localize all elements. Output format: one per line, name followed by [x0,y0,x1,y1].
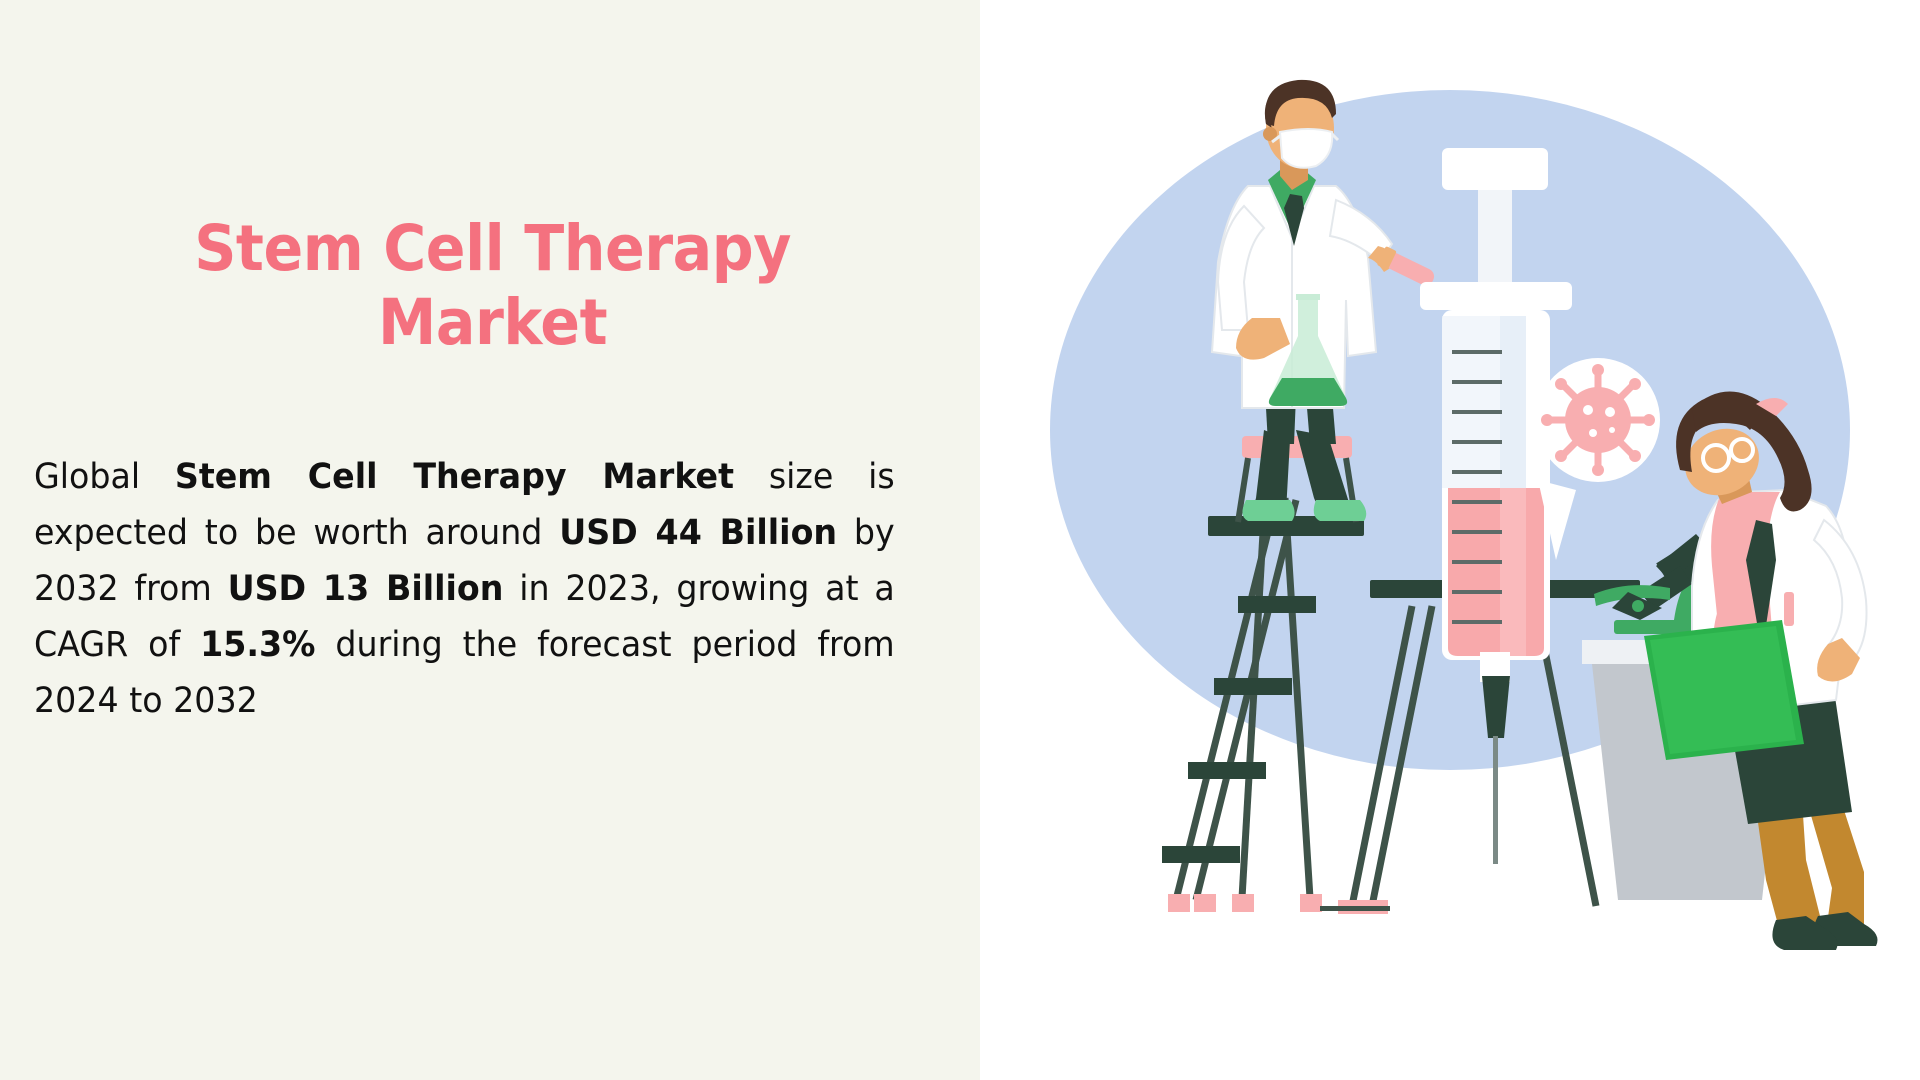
summary-emphasis: Stem Cell Therapy Market [175,457,734,497]
market-summary-paragraph: Global Stem Cell Therapy Market size is … [34,449,895,729]
summary-emphasis: USD 44 Billion [559,513,837,553]
summary-emphasis: 15.3% [200,625,315,665]
clipboard [1644,620,1804,760]
page-title: Stem Cell Therapy Market [66,212,909,361]
infographic-banner: Stem Cell Therapy Market Global Stem Cel… [0,0,1920,1080]
summary-emphasis: USD 13 Billion [228,569,504,609]
illustration-panel [980,0,1920,1080]
text-panel: Stem Cell Therapy Market Global Stem Cel… [0,0,980,1080]
virus-icon [1541,364,1655,476]
market-summary-fulltext: Global Stem Cell Therapy Market size is … [34,0,35,1]
lab-scene-illustration [980,0,1920,1080]
summary-text: Global [34,457,175,497]
